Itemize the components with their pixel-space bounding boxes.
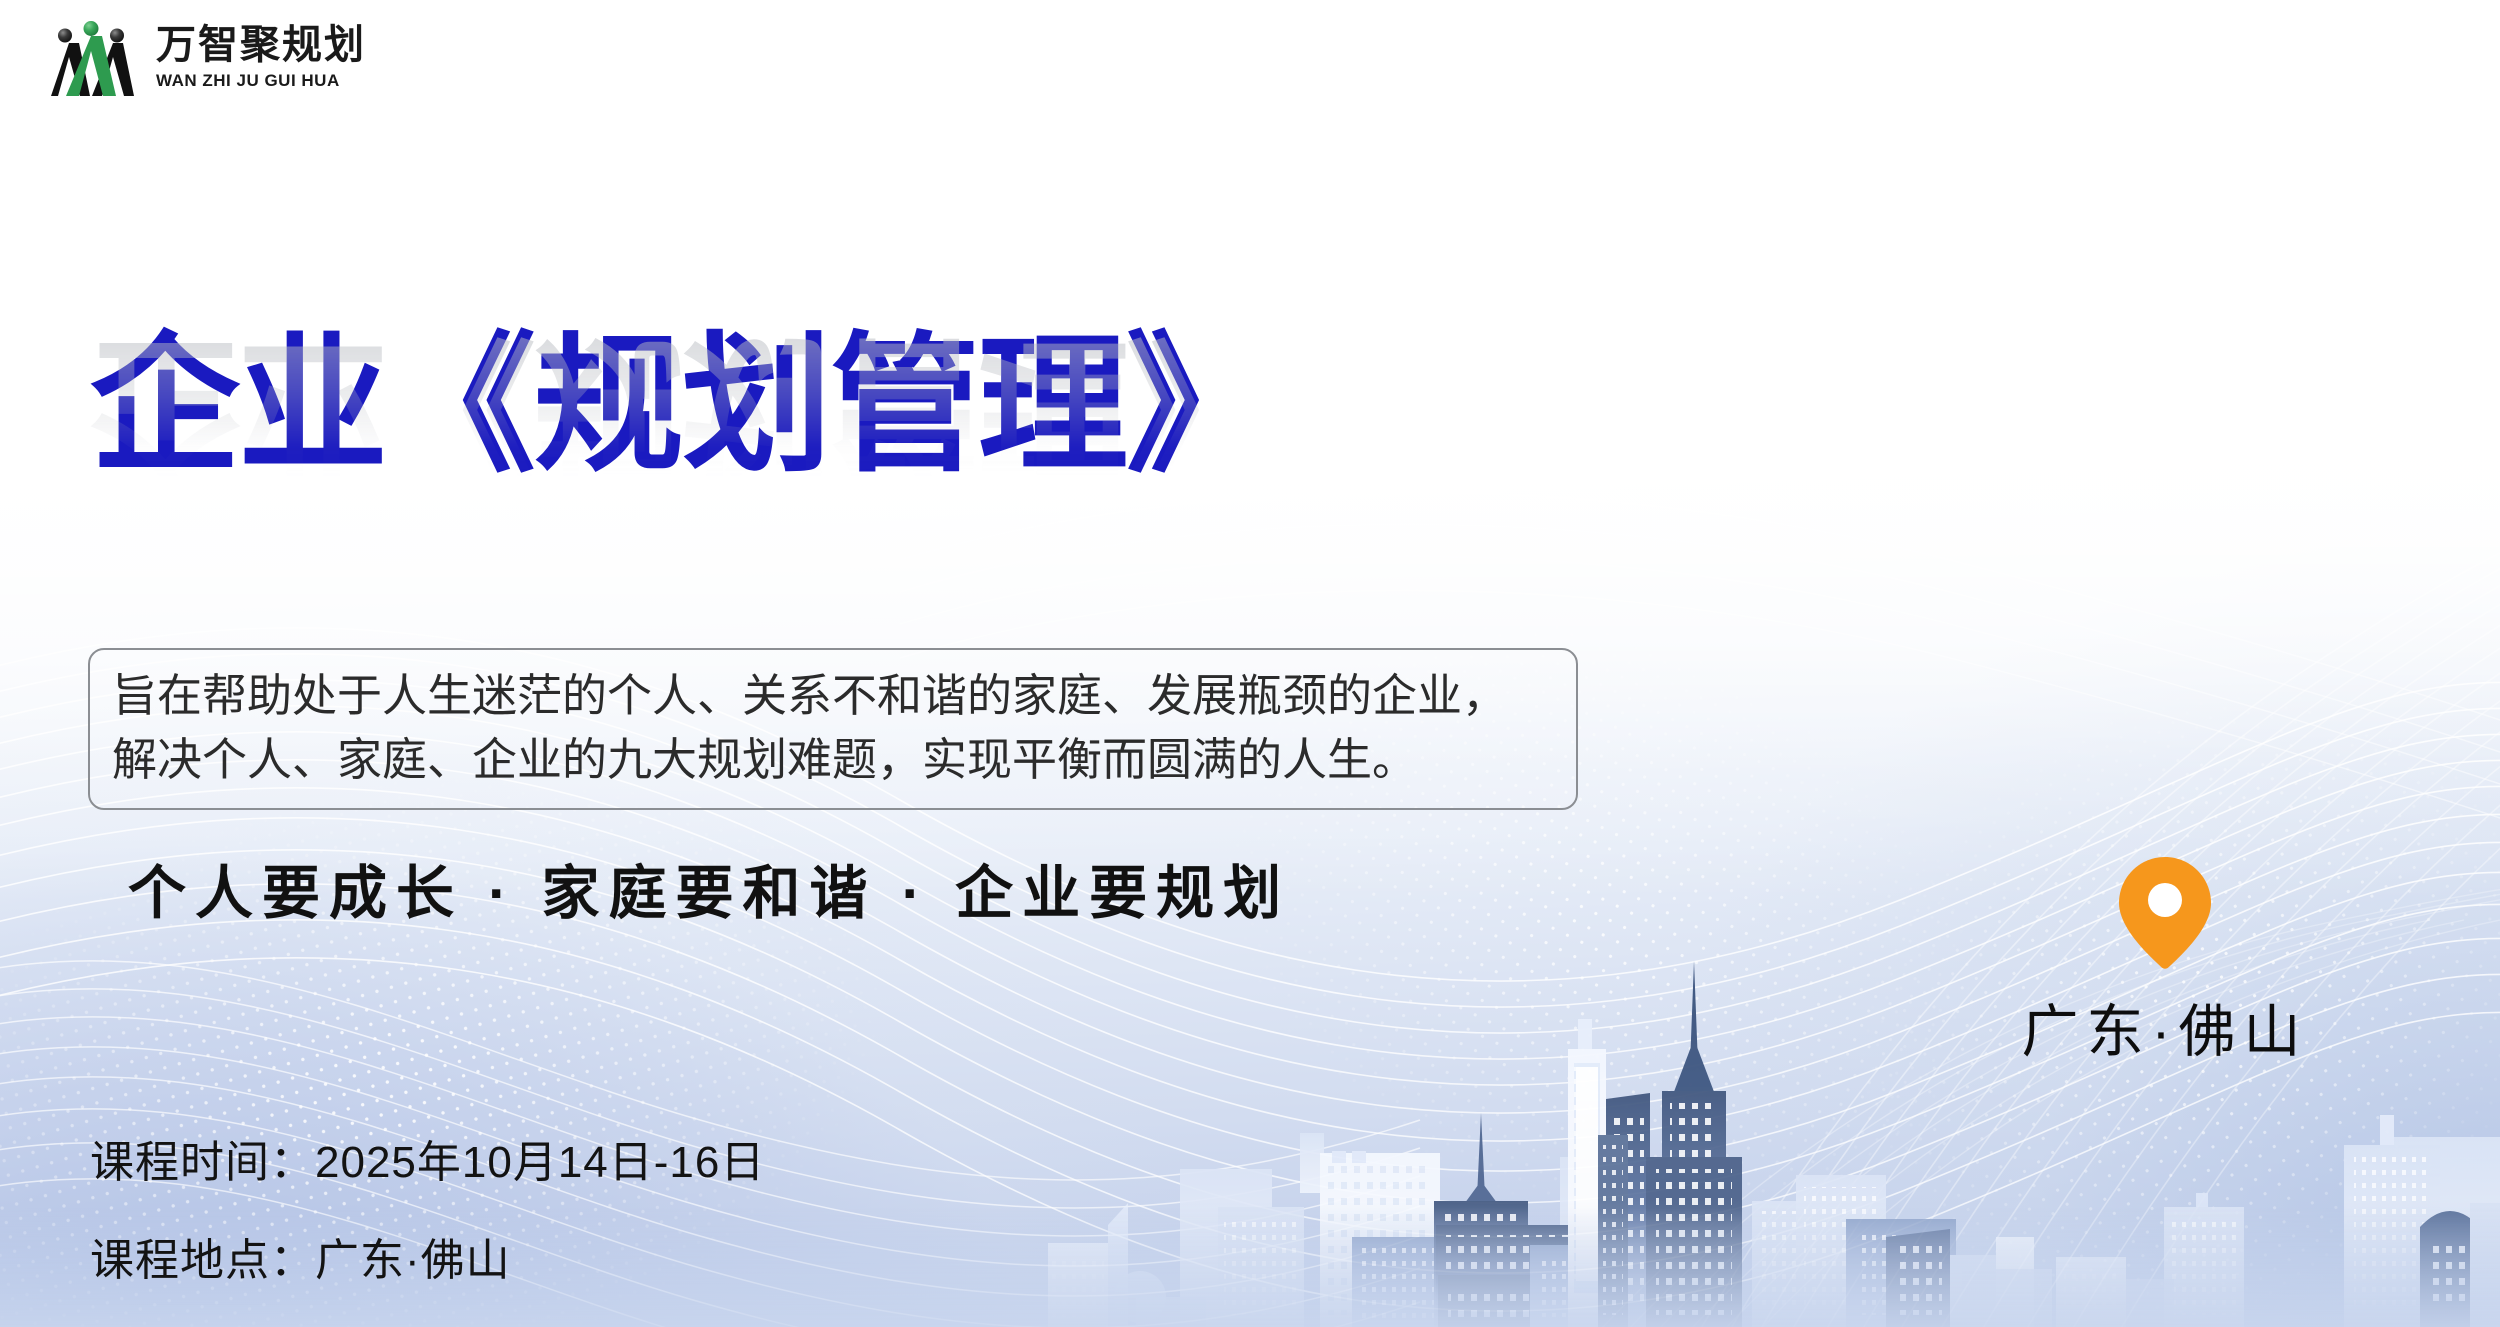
three-people-logo-icon (48, 18, 134, 96)
promo-banner: 万智聚规划 WAN ZHI JU GUI HUA 企业《规划管理》 企业《规划管… (0, 0, 2500, 1327)
page-title-reflection: 企业《规划管理》 (90, 330, 1274, 480)
brand-name-pinyin: WAN ZHI JU GUI HUA (156, 72, 366, 89)
slogan-text: 个人要成长 · 家庭要和谐 · 企业要规划 (128, 846, 1290, 930)
location-label: 广东·佛山 (1955, 986, 2375, 1068)
course-place: 课程地点：广东·佛山 (90, 1224, 765, 1288)
description-line-1: 旨在帮助处于人生迷茫的个人、关系不和谐的家庭、发展瓶颈的企业， (112, 664, 1554, 728)
course-info-block: 课程时间：2025年10月14日-16日 课程地点：广东·佛山 (90, 1126, 765, 1288)
description-box: 旨在帮助处于人生迷茫的个人、关系不和谐的家庭、发展瓶颈的企业， 解决个人、家庭、… (88, 648, 1578, 810)
brand-logo[interactable]: 万智聚规划 WAN ZHI JU GUI HUA (48, 18, 366, 96)
location-badge: 广东·佛山 (1955, 855, 2375, 1068)
course-time: 课程时间：2025年10月14日-16日 (90, 1126, 765, 1190)
description-line-2: 解决个人、家庭、企业的九大规划难题，实现平衡而圆满的人生。 (112, 728, 1554, 792)
hero-title-block: 企业《规划管理》 企业《规划管理》 (90, 330, 1274, 630)
brand-name-cn: 万智聚规划 (156, 25, 366, 65)
map-pin-icon (2116, 855, 2214, 970)
brand-logo-text: 万智聚规划 WAN ZHI JU GUI HUA (156, 25, 366, 89)
